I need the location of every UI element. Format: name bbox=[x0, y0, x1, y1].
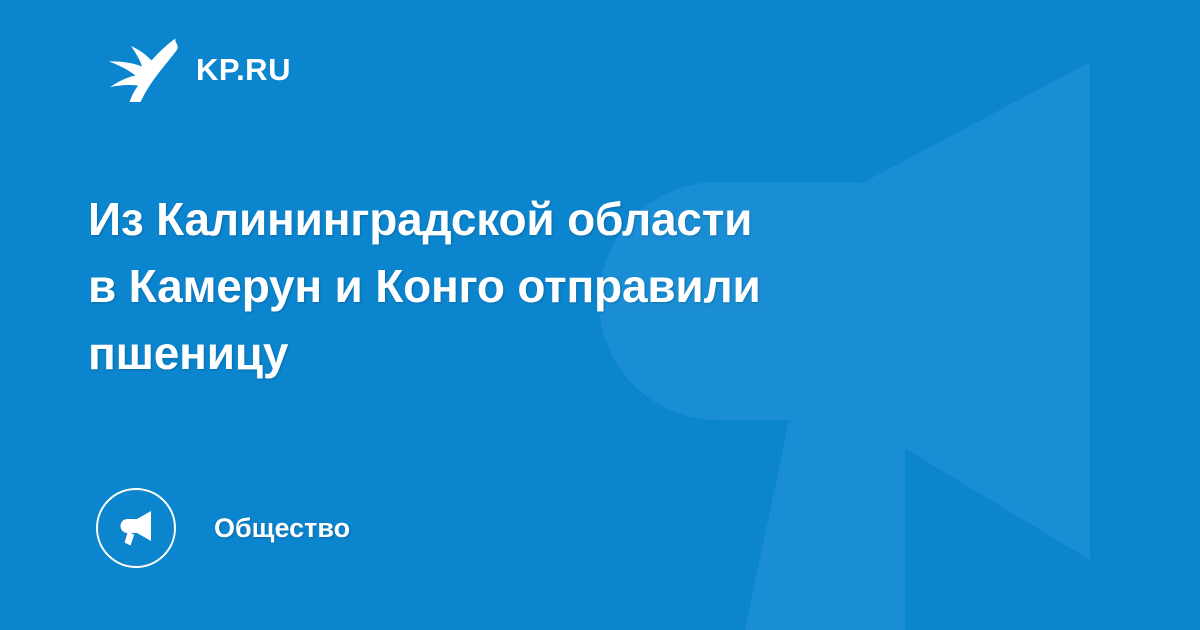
headline-line-2: в Камерун и Конго отправили bbox=[88, 253, 988, 320]
megaphone-icon bbox=[115, 507, 157, 549]
page-title: Из Калининградской области в Камерун и К… bbox=[88, 186, 988, 387]
headline-line-1: Из Калининградской области bbox=[88, 186, 988, 253]
swallow-bird-icon bbox=[106, 36, 178, 102]
category-label: Общество bbox=[214, 515, 350, 542]
headline-line-3: пшеницу bbox=[88, 320, 988, 387]
category-icon-circle bbox=[96, 488, 176, 568]
social-share-card: KP.RU Из Калининградской области в Камер… bbox=[0, 0, 1200, 630]
brand-name-label: KP.RU bbox=[196, 54, 291, 85]
category-badge[interactable]: Общество bbox=[96, 486, 350, 570]
brand-logo[interactable]: KP.RU bbox=[106, 36, 291, 102]
